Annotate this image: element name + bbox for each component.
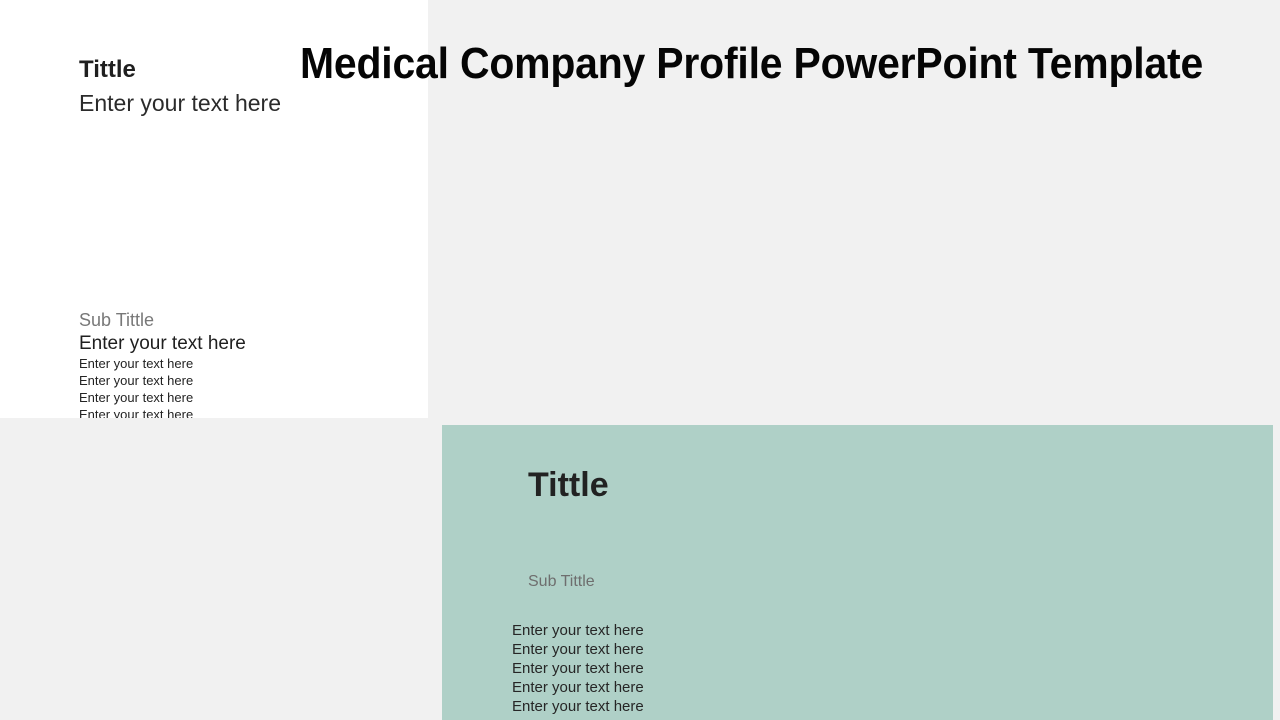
list-item: Enter your text here xyxy=(512,697,912,716)
slide-thumbnail-teal[interactable]: Tittle Sub Tittle Enter your text here E… xyxy=(442,425,1273,720)
white-slide-title: Tittle xyxy=(79,56,136,84)
list-item: Enter your text here xyxy=(79,372,409,389)
slide-preview-stage: Tittle Enter your text here Sub Tittle E… xyxy=(0,0,1280,720)
white-slide-body-lead: Enter your text here xyxy=(79,332,246,355)
white-slide-subtitle: Sub Tittle xyxy=(79,309,154,331)
white-slide-text-list: Enter your text here Enter your text her… xyxy=(79,355,409,418)
teal-slide-subtitle: Sub Tittle xyxy=(528,572,595,592)
list-item: Enter your text here xyxy=(79,389,409,406)
white-slide-lead-text: Enter your text here xyxy=(79,89,281,117)
teal-slide-text-list: Enter your text here Enter your text her… xyxy=(512,621,912,716)
page-title: Medical Company Profile PowerPoint Templ… xyxy=(300,38,1081,90)
list-item: Enter your text here xyxy=(512,640,912,659)
list-item: Enter your text here xyxy=(512,621,912,640)
list-item: Enter your text here xyxy=(79,355,409,372)
list-item: Enter your text here xyxy=(512,678,912,697)
teal-slide-title: Tittle xyxy=(528,465,609,505)
list-item: Enter your text here xyxy=(512,659,912,678)
list-item: Enter your text here xyxy=(79,406,409,418)
